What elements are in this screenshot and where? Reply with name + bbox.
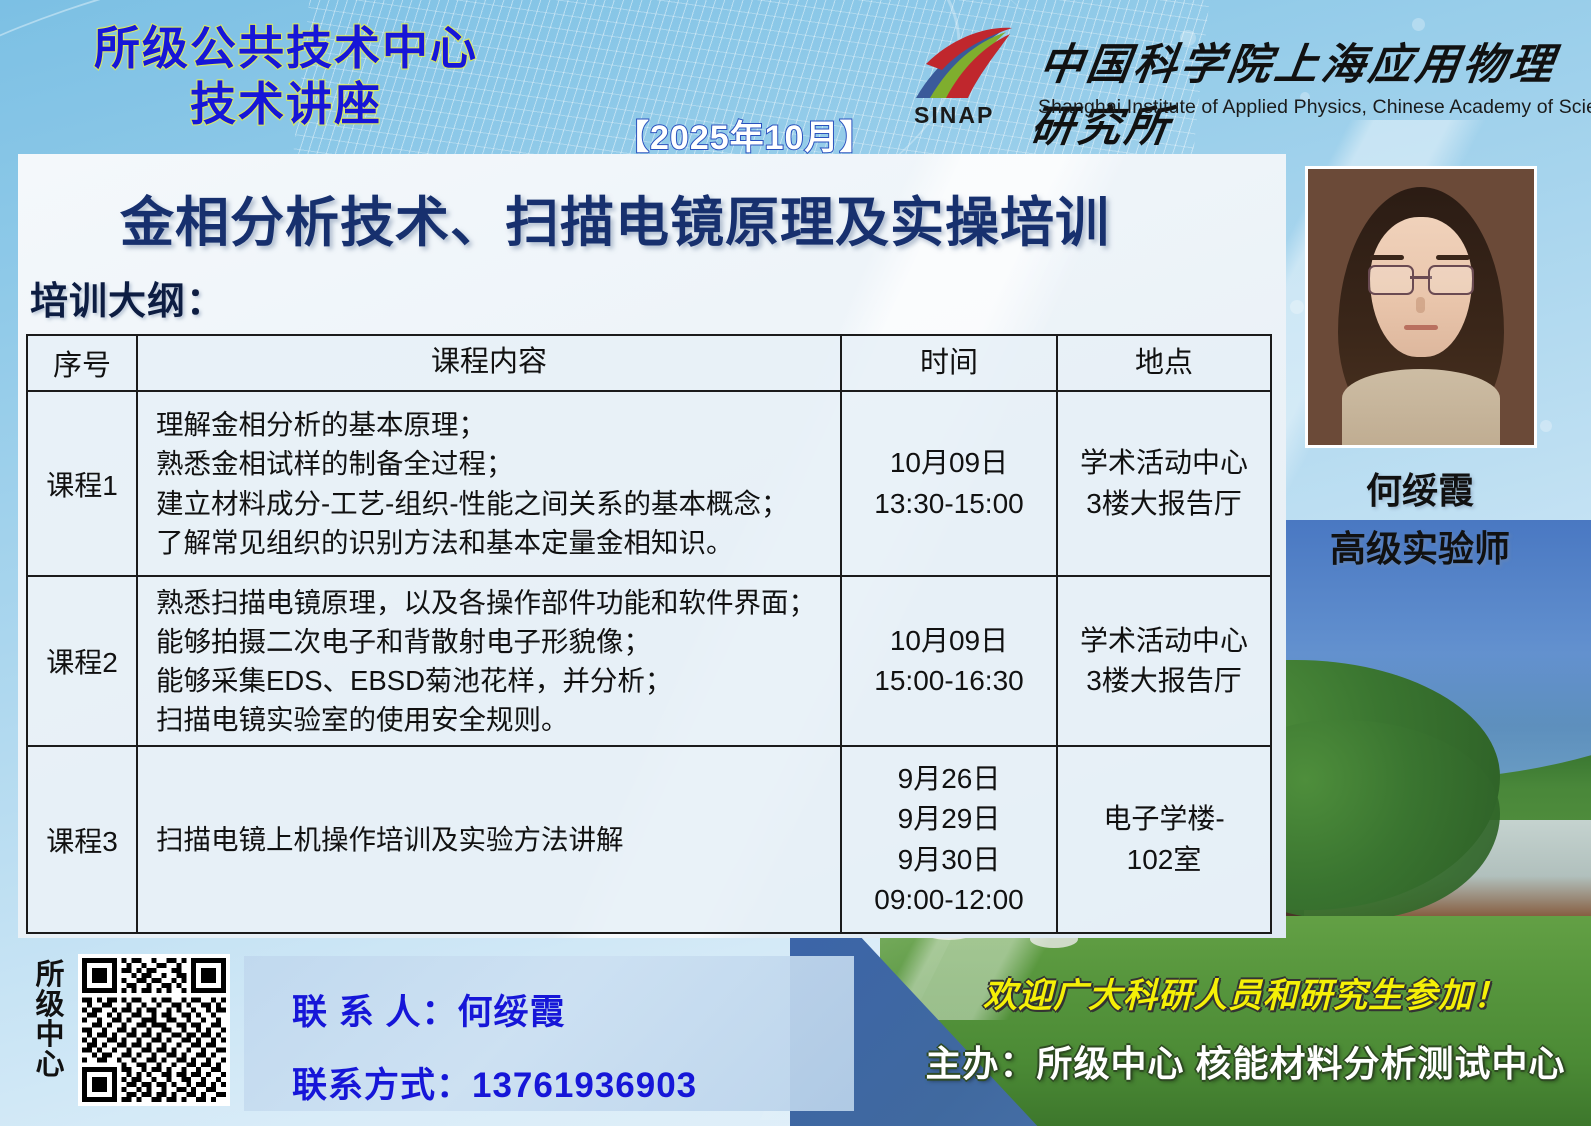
qr-code-icon <box>82 958 226 1102</box>
row-content: 理解金相分析的基本原理； 熟悉金相试样的制备全过程； 建立材料成分-工艺-组织-… <box>137 391 841 576</box>
portrait-eyebrow <box>1370 255 1404 260</box>
contact-box: 联 系 人：何绥霞 联系方式：13761936903 <box>244 956 854 1111</box>
time-line: 10月09日 <box>843 443 1055 484</box>
row-time: 9月26日 9月29日 9月30日 09:00-12:00 <box>841 746 1057 933</box>
welcome-message: 欢迎广大科研人员和研究生参加！ <box>900 968 1591 1017</box>
qr-label-char: 级 <box>32 990 68 1020</box>
speaker-block: 何绥霞 高级实验师 <box>1305 166 1535 572</box>
time-line: 13:30-15:00 <box>843 484 1055 525</box>
place-line: 3楼大报告厅 <box>1059 661 1269 702</box>
row-content: 熟悉扫描电镜原理，以及各操作部件功能和软件界面； 能够拍摄二次电子和背散射电子形… <box>137 576 841 746</box>
org-title-line2: 技术讲座 <box>76 76 496 132</box>
time-line: 09:00-12:00 <box>843 880 1055 921</box>
contact-person: 联 系 人：何绥霞 <box>292 956 854 1035</box>
schedule-table: 序号 课程内容 时间 地点 课程1 理解金相分析的基本原理； 熟悉金相试样的制备… <box>26 334 1272 934</box>
row-no: 课程3 <box>27 746 137 933</box>
qr-label: 所 级 中 心 <box>32 960 68 1081</box>
portrait-nose <box>1416 297 1425 313</box>
institute-name-en: Shanghai Institute of Applied Physics, C… <box>1038 96 1591 119</box>
content-line: 建立材料成分-工艺-组织-性能之间关系的基本概念； <box>156 484 840 523</box>
row-no: 课程1 <box>27 391 137 576</box>
content-line: 熟悉金相试样的制备全过程； <box>156 444 840 483</box>
content-line: 能够采集EDS、EBSD菊池花样，并分析； <box>156 661 840 700</box>
col-header-content: 课程内容 <box>137 335 841 391</box>
place-line: 3楼大报告厅 <box>1059 484 1269 525</box>
content-line: 扫描电镜实验室的使用安全规则。 <box>156 700 840 739</box>
institute-logo: SINAP 中国科学院上海应用物理研究所 Shanghai Institute … <box>908 24 1568 132</box>
date-badge: 【2025年10月】 <box>615 110 874 159</box>
qr-label-char: 中 <box>32 1020 68 1050</box>
table-row: 课程3 扫描电镜上机操作培训及实验方法讲解 9月26日 9月29日 9月30日 … <box>27 746 1271 933</box>
time-line: 9月29日 <box>843 799 1055 840</box>
time-line: 15:00-16:30 <box>843 661 1055 702</box>
speaker-role: 高级实验师 <box>1305 520 1535 572</box>
footer-right: 欢迎广大科研人员和研究生参加！ 主办：所级中心 核能材料分析测试中心 <box>900 968 1591 1098</box>
sinap-logo-icon <box>908 24 1020 106</box>
poster-root: 所级公共技术中心 技术讲座 【2025年10月】 SINAP 中国科学院上海应用… <box>0 0 1591 1126</box>
outline-label: 培训大纲： <box>30 270 225 325</box>
contact-phone: 联系方式：13761936903 <box>292 1035 854 1108</box>
row-content: 扫描电镜上机操作培训及实验方法讲解 <box>137 746 841 933</box>
portrait-glasses <box>1368 265 1474 291</box>
glasses-lens <box>1428 265 1474 295</box>
time-line: 9月26日 <box>843 759 1055 800</box>
table-row: 课程2 熟悉扫描电镜原理，以及各操作部件功能和软件界面； 能够拍摄二次电子和背散… <box>27 576 1271 746</box>
col-header-place: 地点 <box>1057 335 1271 391</box>
place-line: 电子学楼- <box>1059 799 1269 840</box>
row-place: 学术活动中心 3楼大报告厅 <box>1057 391 1271 576</box>
table-header-row: 序号 课程内容 时间 地点 <box>27 335 1271 391</box>
place-line: 学术活动中心 <box>1059 621 1269 662</box>
org-title-line1: 所级公共技术中心 <box>76 20 496 76</box>
time-line: 10月09日 <box>843 621 1055 662</box>
row-time: 10月09日 13:30-15:00 <box>841 391 1057 576</box>
glasses-lens <box>1368 265 1414 295</box>
speaker-name: 何绥霞 <box>1305 462 1535 514</box>
portrait-mouth <box>1404 325 1438 330</box>
speaker-portrait <box>1305 166 1537 448</box>
content-line: 能够拍摄二次电子和背散射电子形貌像； <box>156 622 840 661</box>
col-header-no: 序号 <box>27 335 137 391</box>
time-line: 9月30日 <box>843 840 1055 881</box>
portrait-shoulders <box>1342 369 1500 445</box>
page-title: 金相分析技术、扫描电镜原理及实操培训 <box>120 178 1270 257</box>
logo-wordmark: SINAP <box>914 102 994 129</box>
qr-block: 所 级 中 心 <box>32 954 232 1114</box>
place-line: 102室 <box>1059 840 1269 881</box>
content-line: 熟悉扫描电镜原理，以及各操作部件功能和软件界面； <box>156 583 840 622</box>
row-no: 课程2 <box>27 576 137 746</box>
col-header-time: 时间 <box>841 335 1057 391</box>
organizer-line: 主办：所级中心 核能材料分析测试中心 <box>900 1035 1591 1087</box>
content-line: 了解常见组织的识别方法和基本定量金相知识。 <box>156 523 840 562</box>
content-line: 理解金相分析的基本原理； <box>156 405 840 444</box>
row-place: 电子学楼- 102室 <box>1057 746 1271 933</box>
table-row: 课程1 理解金相分析的基本原理； 熟悉金相试样的制备全过程； 建立材料成分-工艺… <box>27 391 1271 576</box>
qr-code[interactable] <box>78 954 230 1106</box>
row-place: 学术活动中心 3楼大报告厅 <box>1057 576 1271 746</box>
page-header: 所级公共技术中心 技术讲座 【2025年10月】 SINAP 中国科学院上海应用… <box>0 0 1591 156</box>
content-line: 扫描电镜上机操作培训及实验方法讲解 <box>156 820 840 859</box>
footer-left: 所 级 中 心 <box>18 944 870 1126</box>
row-time: 10月09日 15:00-16:30 <box>841 576 1057 746</box>
org-title: 所级公共技术中心 技术讲座 <box>76 20 496 132</box>
qr-label-char: 所 <box>32 960 68 990</box>
qr-label-char: 心 <box>32 1050 68 1080</box>
institute-name-cn: 中国科学院上海应用物理研究所 <box>1027 30 1576 154</box>
portrait-eyebrow <box>1436 255 1470 260</box>
place-line: 学术活动中心 <box>1059 443 1269 484</box>
